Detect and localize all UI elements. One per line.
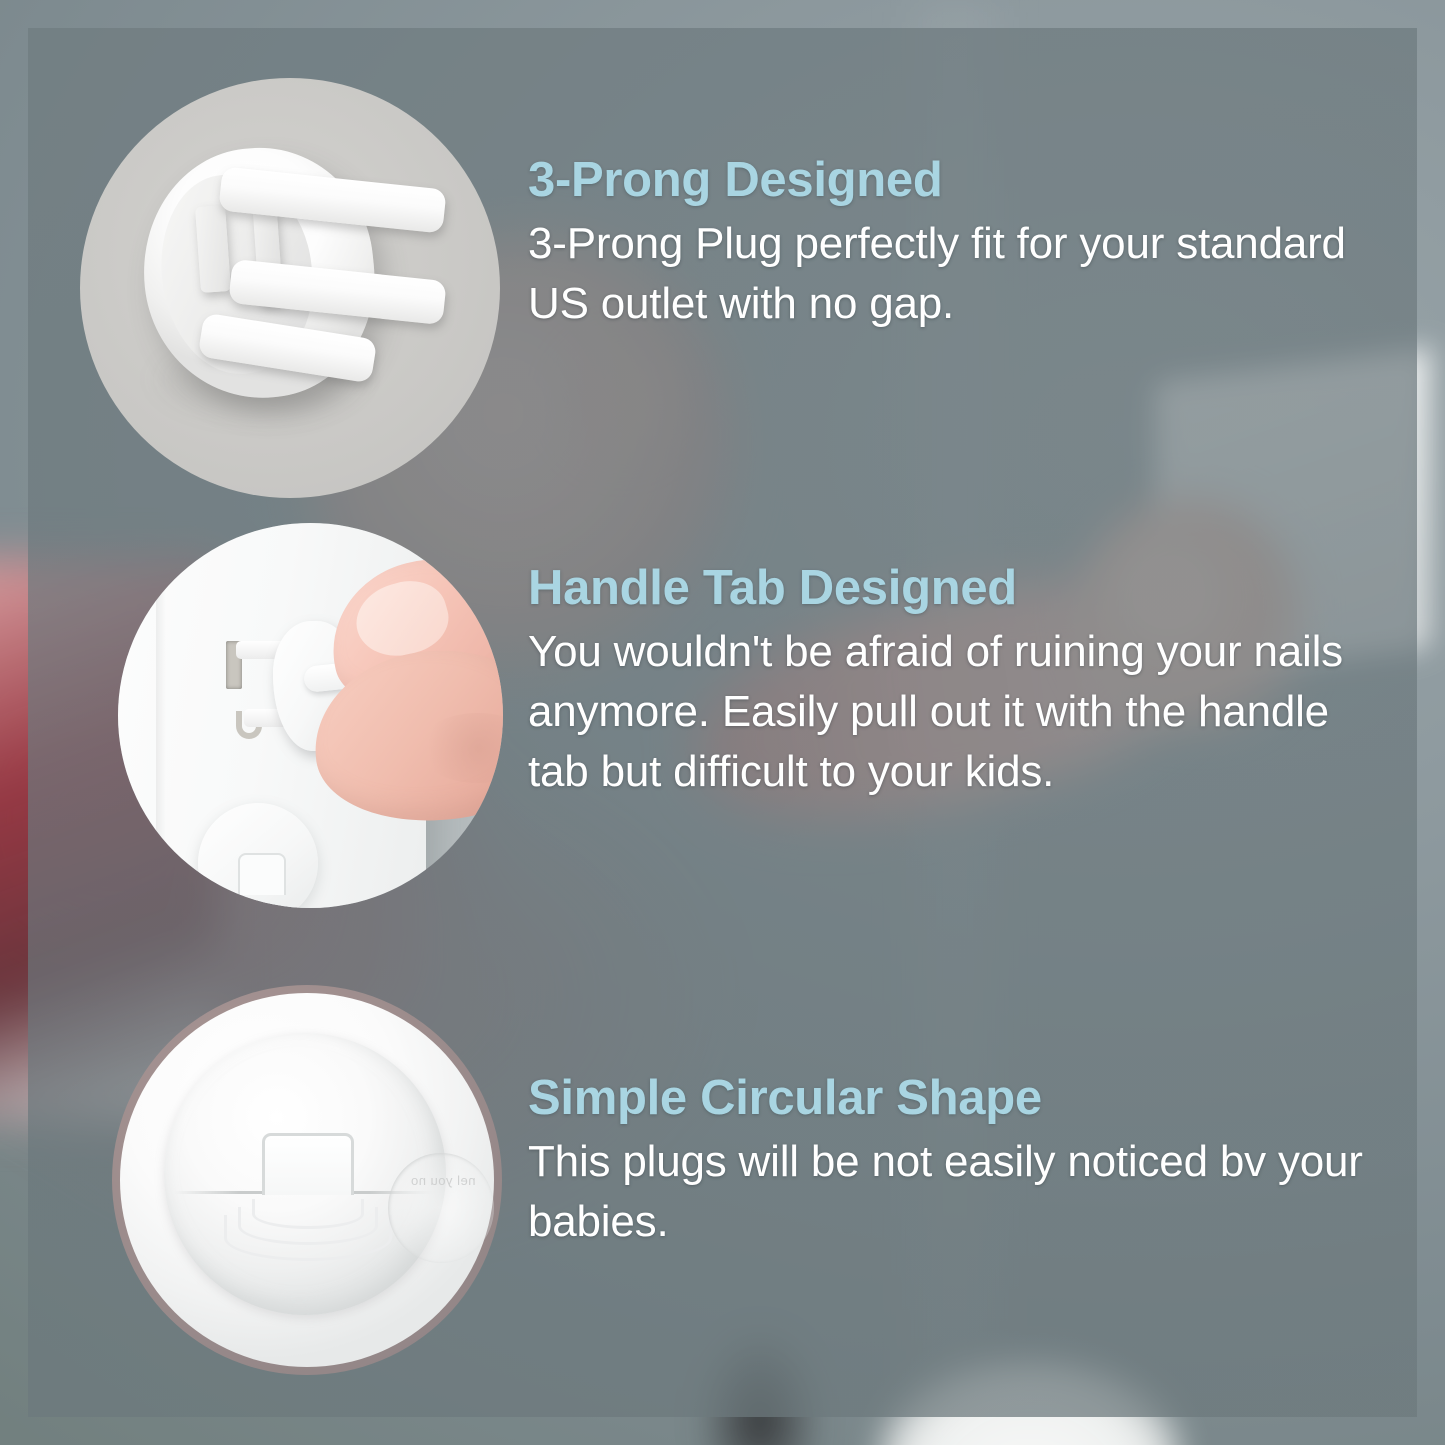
installed-cover-tab [262, 1133, 354, 1195]
feature-title-handle-tab: Handle Tab Designed [528, 558, 1388, 618]
feature-text-handle-tab: Handle Tab Designed You wouldn't be afra… [528, 558, 1388, 802]
plug-inner-rib-a [195, 205, 231, 293]
feature-title-three-prong: 3-Prong Designed [528, 150, 1388, 210]
cover-ripple-3 [224, 1215, 392, 1261]
feature-title-circular-shape: Simple Circular Shape [528, 1068, 1388, 1128]
second-plug-cover-tab [238, 853, 286, 895]
embossed-badge-text: nel you no [398, 1171, 488, 1191]
embossed-badge [388, 1153, 494, 1263]
feature-text-three-prong: 3-Prong Designed 3-Prong Plug perfectly … [528, 150, 1388, 334]
content-layer: 3-Prong Designed 3-Prong Plug perfectly … [0, 0, 1445, 1445]
product-feature-infographic: 3-Prong Designed 3-Prong Plug perfectly … [0, 0, 1445, 1445]
feature-image-circular-shape: nel you no [112, 985, 502, 1375]
feature-text-circular-shape: Simple Circular Shape This plugs will be… [528, 1068, 1388, 1252]
feature-body-handle-tab: You wouldn't be afraid of ruining your n… [528, 622, 1388, 802]
feature-image-handle-tab [118, 523, 503, 908]
feature-body-circular-shape: This plugs will be not easily noticed bv… [528, 1132, 1388, 1252]
feature-body-three-prong: 3-Prong Plug perfectly fit for your stan… [528, 214, 1388, 334]
feature-image-three-prong [80, 78, 500, 498]
outlet-plate-edge [156, 523, 166, 908]
